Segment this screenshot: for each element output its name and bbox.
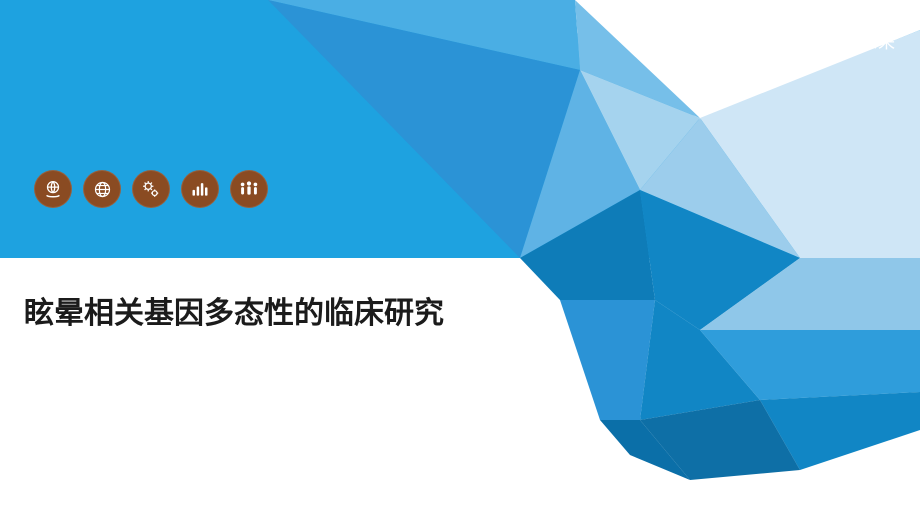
gears-icon bbox=[132, 170, 170, 208]
bar-chart-icon bbox=[181, 170, 219, 208]
people-group-icon bbox=[230, 170, 268, 208]
globe-hand-icon bbox=[34, 170, 72, 208]
tagline: 数智创新 变革未来 bbox=[746, 28, 896, 53]
background-artwork bbox=[0, 0, 920, 518]
slide-canvas: 数智创新 变革未来 bbox=[0, 0, 920, 518]
icon-row bbox=[34, 170, 268, 208]
globe-icon bbox=[83, 170, 121, 208]
page-title: 眩晕相关基因多态性的临床研究 bbox=[24, 292, 544, 336]
